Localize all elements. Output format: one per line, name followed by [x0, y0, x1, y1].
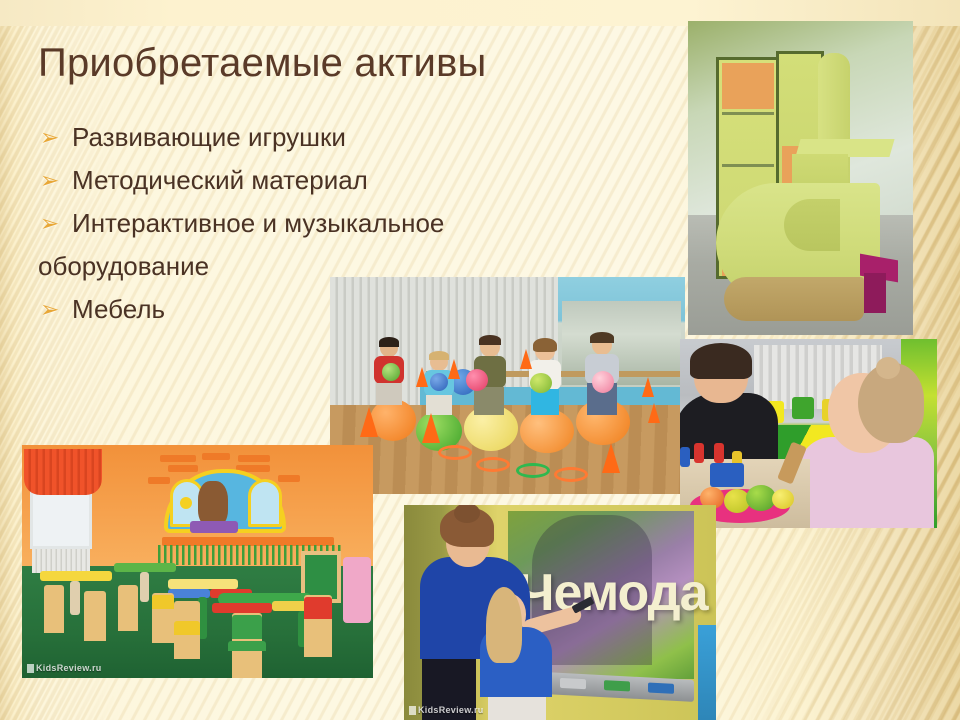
toy-peg-red-2: [714, 443, 724, 463]
bullet-item-3-label: Интерактивное и музыкальное: [72, 206, 444, 240]
wall-decor-brick: [160, 455, 196, 462]
child-chair-yellow: [152, 595, 174, 609]
photo-classroom-tables: KidsReview.ru: [22, 445, 373, 678]
table-green: [114, 563, 176, 572]
presentation-slide: Приобретаемые активы ➢ Развивающие игруш…: [0, 0, 960, 720]
arrow-bullet-icon: ➢: [36, 120, 72, 154]
wall-decor-brick: [168, 465, 198, 472]
child-chair: [84, 591, 106, 641]
traffic-cone: [602, 443, 620, 473]
photo-kindergarten-furniture: [688, 21, 913, 335]
radiator: [32, 549, 90, 573]
child-hair: [486, 587, 522, 663]
floor-ring: [554, 467, 588, 482]
bullet-item-3: ➢ Интерактивное и музыкальное: [36, 206, 646, 240]
tray-marker-grey: [560, 678, 586, 689]
floor-ring: [438, 445, 472, 460]
traffic-cone: [422, 413, 440, 443]
hopper-ball-orange-2: [520, 409, 574, 453]
table-red-2: [212, 603, 272, 613]
held-ball-1: [382, 363, 400, 381]
watermark-kidsreview: KidsReview.ru: [27, 663, 102, 673]
child-chair-green: [232, 615, 262, 639]
arrow-bullet-icon: ➢: [36, 163, 72, 197]
watermark-kidsreview: KidsReview.ru: [409, 705, 484, 715]
toy-fruit-lemon: [772, 489, 794, 509]
traffic-cone: [416, 367, 428, 387]
room-blue-panel: [698, 625, 716, 720]
child-chair-red: [304, 597, 332, 619]
bullet-item-2-label: Методический материал: [72, 163, 368, 197]
arrow-bullet-icon: ➢: [36, 206, 72, 240]
child-trousers: [488, 693, 546, 720]
bullet-item-1-label: Развивающие игрушки: [72, 120, 346, 154]
photo-gym-children-balls: [330, 277, 685, 494]
wall-decor-brick: [148, 477, 170, 484]
held-ball-2: [430, 373, 448, 391]
floor-ring: [516, 463, 550, 478]
toy-peg-blue: [680, 447, 690, 467]
traffic-cone: [642, 377, 654, 397]
slide-title: Приобретаемые активы: [38, 41, 658, 85]
wall-decor-brick: [238, 455, 270, 462]
counter-notch: [784, 199, 840, 251]
held-ball-4: [530, 373, 552, 393]
floor-ring: [476, 457, 510, 472]
counter-base: [724, 277, 864, 321]
toy-bucket-blue: [710, 463, 744, 487]
mural-flower-pot: [190, 521, 238, 533]
tray-marker-blue: [648, 682, 674, 693]
held-ball-3: [466, 369, 488, 391]
child-chair: [118, 585, 138, 631]
toy-peg-red: [694, 443, 704, 463]
table-yellow: [40, 571, 112, 581]
wall-decor-brick: [202, 453, 230, 460]
traffic-cone: [520, 349, 532, 369]
photo-teacher-and-child-toys: [680, 339, 937, 528]
table-yellow-2: [168, 579, 238, 589]
pink-cabinet: [343, 557, 371, 623]
teacher-hair: [690, 343, 752, 379]
traffic-cone: [648, 403, 660, 423]
bullet-item-2: ➢ Методический материал: [36, 163, 646, 197]
arrow-bullet-icon: ➢: [36, 292, 72, 326]
traffic-cone: [448, 359, 460, 379]
bullet-item-4-label: Мебель: [72, 292, 165, 326]
child-chair-yellow-2: [174, 621, 200, 635]
traffic-cone: [360, 407, 378, 437]
small-chair-green: [792, 397, 814, 419]
child-hair-bun: [876, 357, 900, 379]
held-ball-5: [592, 371, 614, 393]
photo-interactive-whiteboard: Чемода KidsReview.ru: [404, 505, 716, 720]
bullet-item-1: ➢ Развивающие игрушки: [36, 120, 646, 154]
child-chair-green-seat: [228, 641, 266, 651]
mural-flower: [180, 497, 192, 509]
wall-decor-brick: [278, 475, 300, 482]
pink-stool-leg: [864, 273, 886, 313]
tray-marker-green: [604, 680, 630, 691]
table-leg: [70, 581, 80, 615]
table-leg: [140, 572, 149, 602]
window-curtain: [24, 449, 102, 495]
child-chair: [44, 585, 64, 633]
mural-window-right: [248, 479, 282, 527]
